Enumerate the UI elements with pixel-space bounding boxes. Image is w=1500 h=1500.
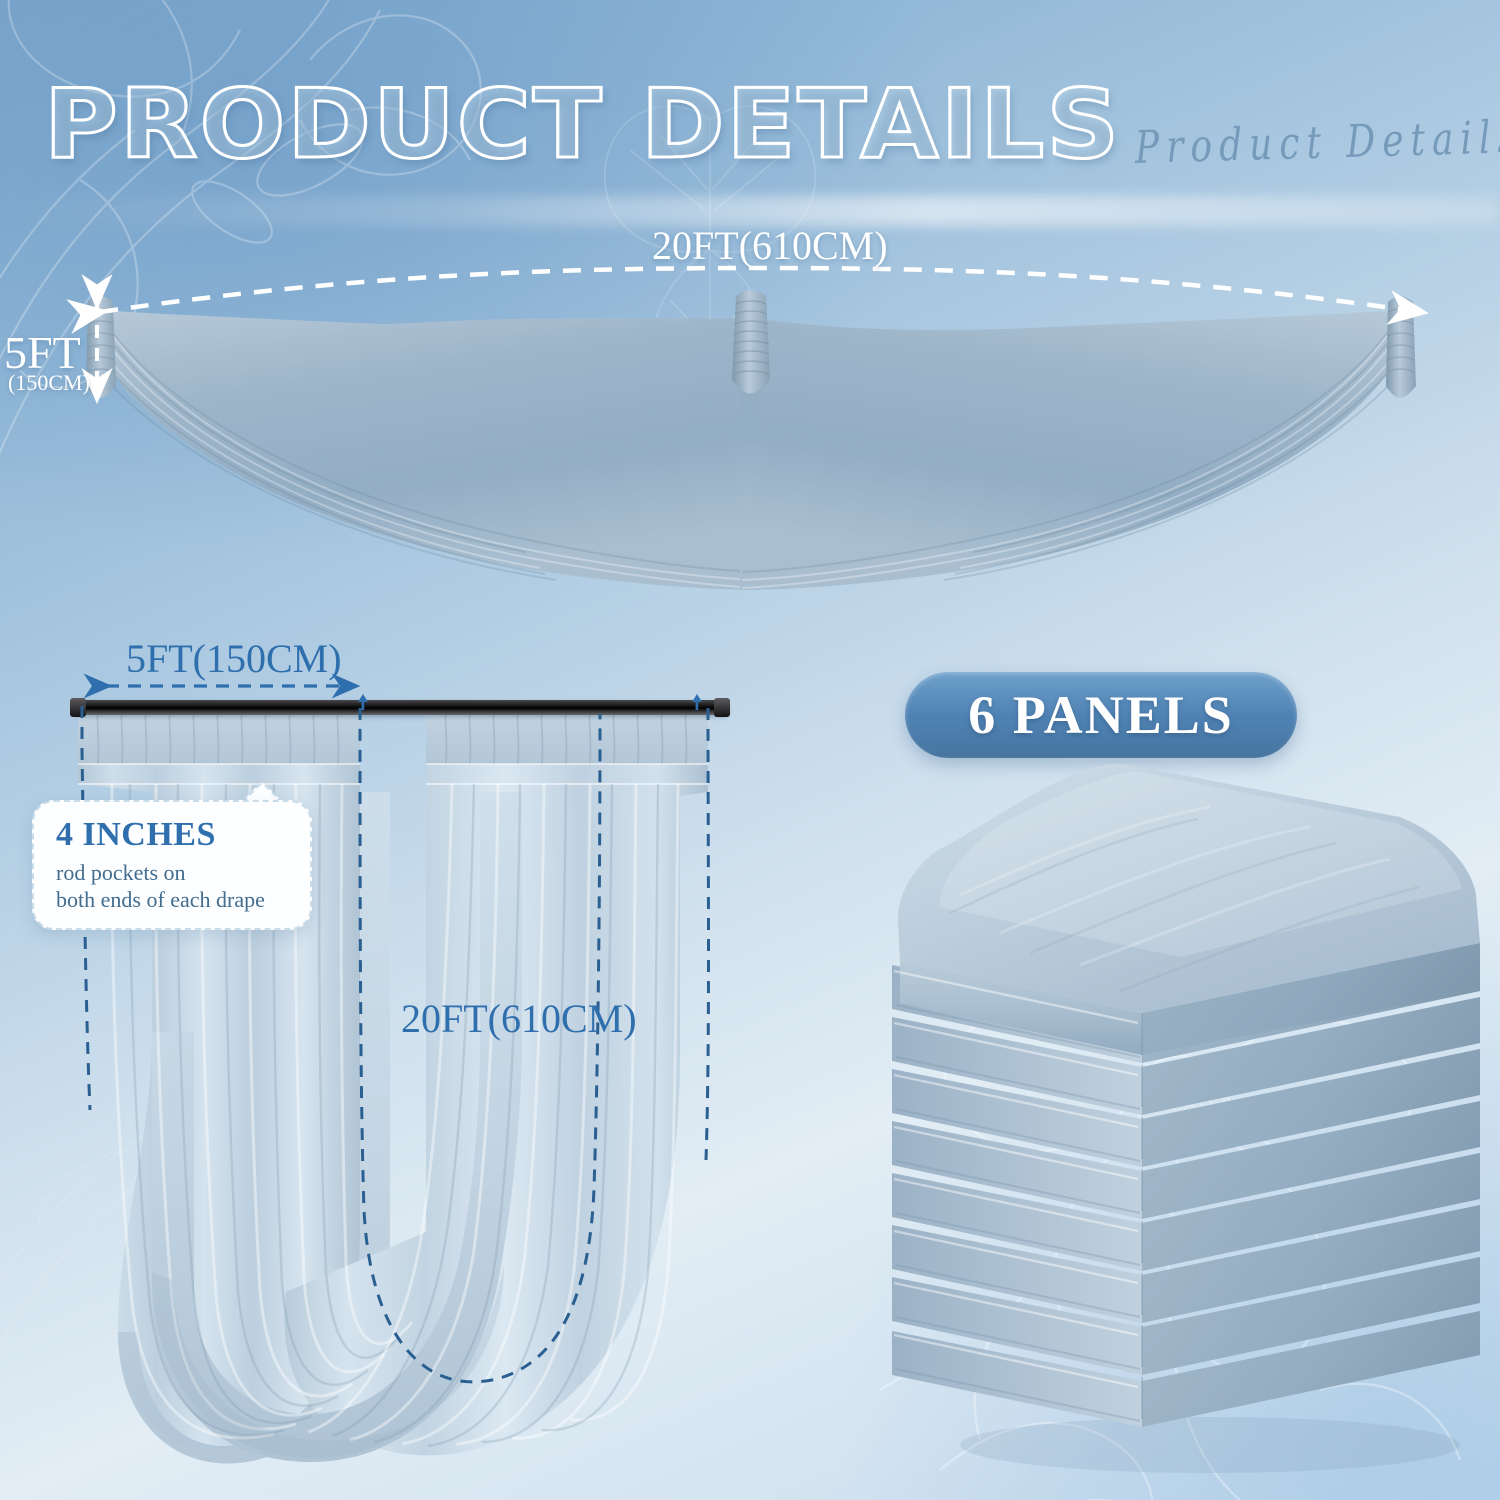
folded-panels-stack	[880, 755, 1500, 1475]
top-width-dimension-line	[60, 268, 1460, 338]
page-title: PRODUCT DETAILS	[44, 78, 1060, 173]
page-title-script: Product Details	[1134, 112, 1500, 174]
rod-pocket-callout: 4 INCHES rod pockets on both ends of eac…	[32, 800, 312, 930]
callout-heading: 4 INCHES	[56, 816, 292, 854]
panel-length-label: 20FT(610CM)	[401, 995, 637, 1042]
panel-count-label: 6 PANELS	[968, 684, 1234, 746]
top-width-label: 20FT(610CM)	[652, 222, 888, 269]
product-details-infographic: PRODUCT DETAILS Product Details	[0, 0, 1500, 1500]
panel-width-label: 5FT(150CM)	[126, 635, 342, 682]
page-title-text: PRODUCT DETAILS	[44, 78, 1121, 173]
callout-line-2: both ends of each drape	[56, 887, 292, 914]
top-height-sub-label: (150CM)	[8, 370, 90, 396]
panel-count-badge: 6 PANELS	[905, 672, 1297, 758]
callout-line-1: rod pockets on	[56, 860, 292, 887]
